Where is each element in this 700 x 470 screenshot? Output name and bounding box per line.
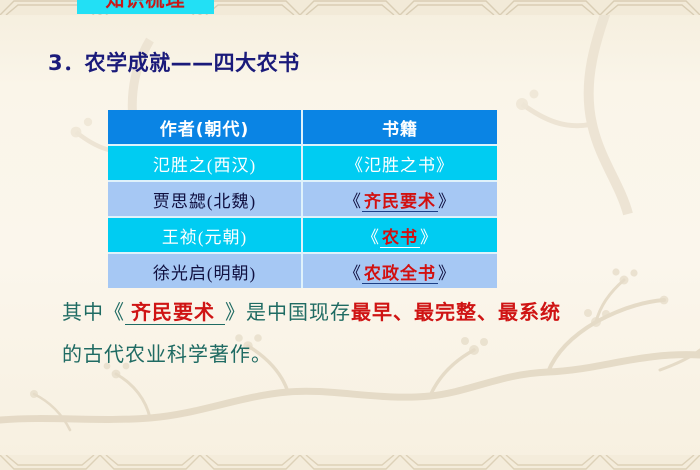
book-title: 氾胜之书 xyxy=(364,156,436,175)
cell-book: 《齐民要术》 xyxy=(303,182,497,218)
paragraph-blank-answer: 齐民要术 xyxy=(125,302,225,325)
cell-author: 氾胜之(西汉) xyxy=(108,146,303,182)
book-bracket-open: 《 xyxy=(344,192,362,211)
book-title: 农政全书 xyxy=(362,264,438,284)
summary-paragraph: 其中《齐民要术》是中国现存最早、最完整、最系统 的古代农业科学著作。 xyxy=(62,292,652,376)
table-row: 徐光启(明朝)《农政全书》 xyxy=(108,254,497,288)
cell-author: 王祯(元朝) xyxy=(108,218,303,254)
column-header-author: 作者(朝代) xyxy=(108,110,303,146)
table-row: 贾思勰(北魏)《齐民要术》 xyxy=(108,182,497,218)
paragraph-emphasis: 最早、最完整、最系统 xyxy=(351,302,561,324)
cell-book: 《农政全书》 xyxy=(303,254,497,288)
page-title: 3．农学成就——四大农书 xyxy=(48,47,300,77)
column-header-book: 书籍 xyxy=(303,110,497,146)
book-bracket-open: 《 xyxy=(346,156,364,175)
slide-canvas: 知识梳理 3．农学成就——四大农书 作者(朝代) 书籍 氾胜之(西汉)《氾胜之书… xyxy=(0,0,700,470)
table-header-row: 作者(朝代) 书籍 xyxy=(108,110,497,146)
cell-author: 徐光启(明朝) xyxy=(108,254,303,288)
cell-book: 《农书》 xyxy=(303,218,497,254)
bottom-decorative-border xyxy=(0,455,700,470)
book-bracket-open: 《 xyxy=(344,264,362,283)
four-agriculture-books-table: 作者(朝代) 书籍 氾胜之(西汉)《氾胜之书》贾思勰(北魏)《齐民要术》王祯(元… xyxy=(108,110,497,288)
section-banner-label: 知识梳理 xyxy=(105,0,185,10)
book-bracket-open: 《 xyxy=(362,228,380,247)
table-row: 王祯(元朝)《农书》 xyxy=(108,218,497,254)
paragraph-prefix: 其中《 xyxy=(62,302,125,324)
book-bracket-close: 》 xyxy=(420,228,438,247)
paragraph-middle: 》是中国现存 xyxy=(225,302,351,324)
book-title: 齐民要术 xyxy=(362,192,438,212)
book-bracket-close: 》 xyxy=(438,264,456,283)
cell-book: 《氾胜之书》 xyxy=(303,146,497,182)
book-bracket-close: 》 xyxy=(438,192,456,211)
book-bracket-close: 》 xyxy=(436,156,454,175)
cell-author: 贾思勰(北魏) xyxy=(108,182,303,218)
book-title: 农书 xyxy=(380,228,420,248)
table-row: 氾胜之(西汉)《氾胜之书》 xyxy=(108,146,497,182)
paragraph-line-2: 的古代农业科学著作。 xyxy=(62,334,652,376)
section-banner: 知识梳理 xyxy=(77,0,214,14)
